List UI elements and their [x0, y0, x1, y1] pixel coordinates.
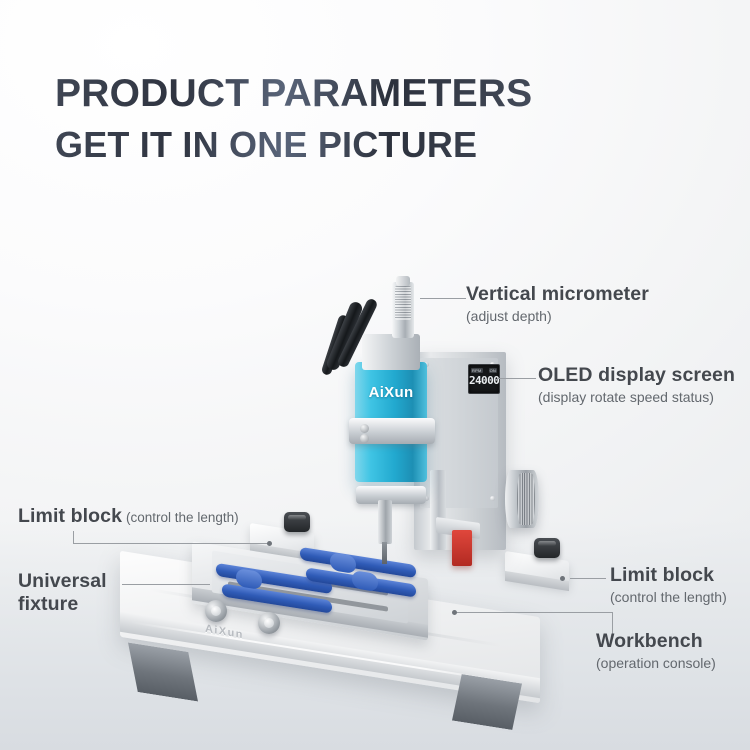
oled-speed-value: 24000	[469, 374, 499, 387]
fixture-adjust-knob-left	[205, 600, 227, 622]
oled-tag-left: RPM	[471, 368, 483, 373]
callout-title-universal-fixture-line2: fixture	[18, 593, 107, 616]
limit-block-left-knob	[284, 512, 310, 532]
oled-tag-right: ON	[489, 368, 497, 373]
callout-title-workbench: Workbench	[596, 630, 716, 653]
callout-subtitle-oled-display: (display rotate speed status)	[538, 389, 735, 405]
callout-subtitle-limit-block-left: (control the length)	[126, 510, 239, 525]
oled-display-panel: RPM ON 24000	[468, 364, 500, 394]
callout-limit-block-left: Limit block (control the length)	[18, 505, 239, 528]
page-title: PRODUCT PARAMETERS GET IT IN ONE PICTURE	[55, 74, 532, 163]
vertical-micrometer-knob	[392, 282, 414, 338]
callout-oled-display: OLED display screen (display rotate spee…	[538, 364, 735, 405]
callout-title-oled-display: OLED display screen	[538, 364, 735, 387]
callout-subtitle-limit-block-right: (control the length)	[610, 589, 727, 605]
callout-limit-block-right: Limit block (control the length)	[610, 564, 727, 605]
fixture-adjust-knob-right	[258, 612, 280, 634]
column-screw-4	[490, 496, 495, 501]
callout-vertical-micrometer: Vertical micrometer (adjust depth)	[466, 283, 649, 324]
leader-oled-display	[498, 378, 536, 380]
callout-title-vertical-micrometer: Vertical micrometer	[466, 283, 649, 306]
callout-title-limit-block-left: Limit block	[18, 505, 122, 528]
leader-limit-block-right	[570, 578, 608, 580]
callout-title-limit-block-right: Limit block	[610, 564, 727, 587]
depth-handwheel	[505, 470, 539, 528]
headline-line-1: PRODUCT PARAMETERS	[55, 74, 532, 114]
leader-universal-fixture	[122, 584, 212, 586]
clamp-bolt-1	[360, 424, 369, 433]
workbench-leg-left	[128, 642, 198, 701]
red-bracket	[452, 530, 472, 566]
limit-block-right-knob	[534, 538, 560, 558]
leader-workbench	[455, 612, 615, 636]
leader-vertical-micrometer	[420, 298, 466, 300]
tool-shaft	[378, 500, 392, 544]
callout-workbench: Workbench (operation console)	[596, 630, 716, 671]
callout-universal-fixture: Universal fixture	[18, 570, 107, 616]
infographic-canvas: PRODUCT PARAMETERS GET IT IN ONE PICTURE…	[0, 0, 750, 750]
spindle-top-collar	[362, 334, 420, 370]
leader-limit-block-left	[73, 531, 273, 545]
micrometer-cap	[396, 276, 410, 286]
callout-subtitle-workbench: (operation console)	[596, 655, 716, 671]
headline-line-2: GET IT IN ONE PICTURE	[55, 127, 532, 164]
support-post	[430, 470, 446, 550]
tool-tip	[382, 542, 387, 564]
callout-title-universal-fixture-line1: Universal	[18, 570, 107, 593]
spindle-brand-logo: AiXun	[362, 384, 420, 401]
clamp-bolt-2	[360, 434, 369, 443]
oled-status-bar: RPM ON	[471, 367, 497, 373]
callout-subtitle-vertical-micrometer: (adjust depth)	[466, 308, 649, 324]
